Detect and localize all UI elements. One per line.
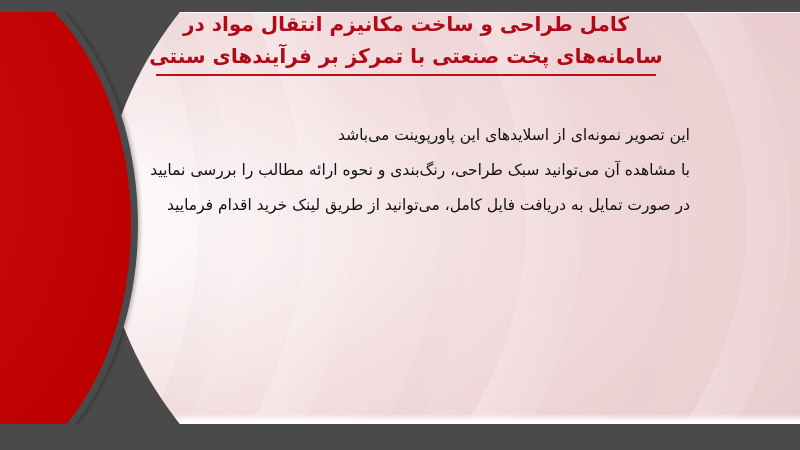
slide-body-line-1: این تصویر نمونه‌ای از اسلایدهای این پاور… (90, 118, 690, 153)
slide-title-underline (156, 74, 656, 76)
slide-body-line-3: در صورت تمایل به دریافت فایل کامل، می‌تو… (90, 188, 690, 223)
slide-title-line-2: سامانه‌های پخت صنعتی با تمرکز بر فرآینده… (60, 40, 752, 72)
slide-title-line-1: کامل طراحی و ساخت مکانیزم انتقال مواد در (60, 8, 752, 40)
slide-body: این تصویر نمونه‌ای از اسلایدهای این پاور… (90, 118, 690, 223)
bottom-frame-band (0, 424, 800, 450)
presentation-slide: کامل طراحی و ساخت مکانیزم انتقال مواد در… (0, 0, 800, 450)
slide-body-line-2: با مشاهده آن می‌توانید سبک طراحی، رنگ‌بن… (90, 153, 690, 188)
slide-title: کامل طراحی و ساخت مکانیزم انتقال مواد در… (60, 8, 752, 76)
